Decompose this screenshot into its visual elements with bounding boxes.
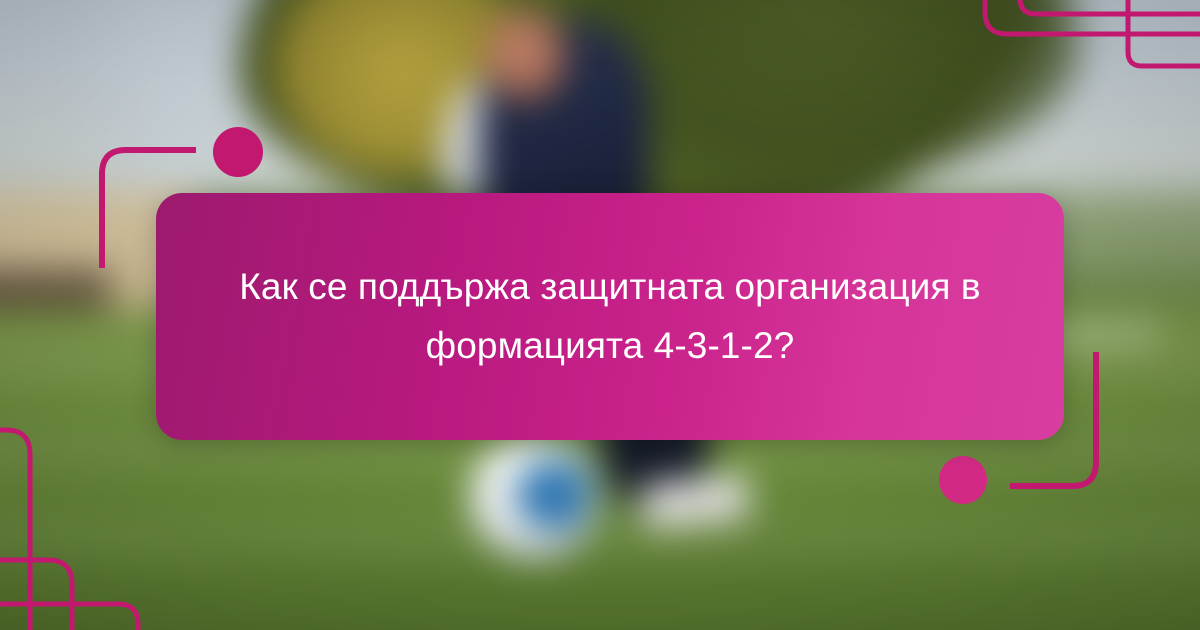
card-title: Как се поддържа защитната организация в … <box>214 258 1006 375</box>
title-card: Как се поддържа защитната организация в … <box>156 193 1064 440</box>
social-card-image: Как се поддържа защитната организация в … <box>0 0 1200 630</box>
